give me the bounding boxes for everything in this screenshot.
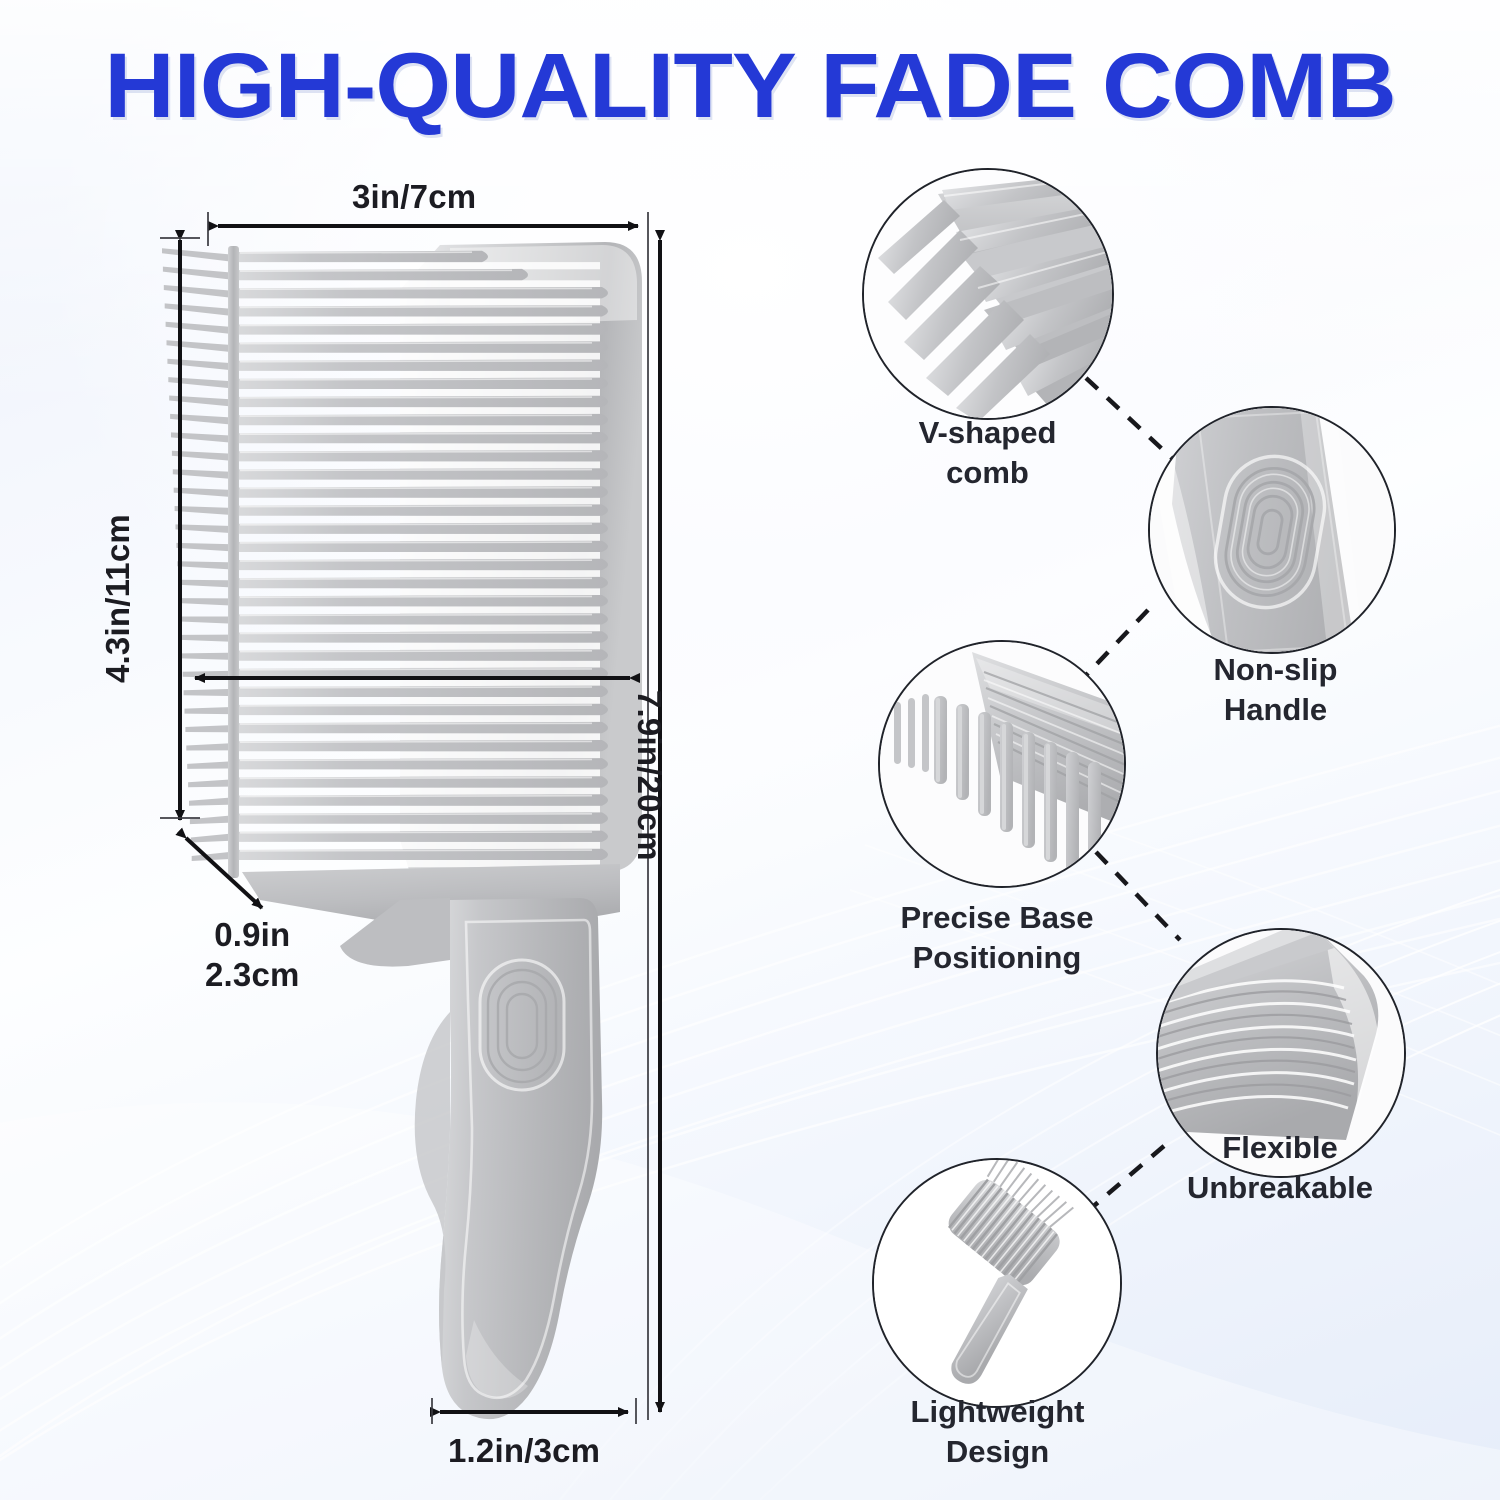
feature-label-lightweight-design: Lightweight Design bbox=[860, 1392, 1135, 1473]
callout-connector-lines bbox=[0, 0, 1500, 1500]
feature-label-v-shaped-comb: V-shaped comb bbox=[855, 413, 1120, 494]
feature-label-flexible-unbreakable: Flexible Unbreakable bbox=[1135, 1128, 1425, 1209]
infographic-canvas: HIGH-QUALITY FADE COMB bbox=[0, 0, 1500, 1500]
feature-circle-lightweight-design bbox=[872, 1158, 1122, 1408]
comb-teeth-closeup-icon bbox=[864, 170, 1114, 420]
whole-comb-icon bbox=[874, 1160, 1122, 1408]
feature-label-non-slip-handle: Non-slip Handle bbox=[1148, 650, 1403, 731]
comb-base-closeup-icon bbox=[880, 642, 1126, 888]
feature-label-precise-base-positioning: Precise Base Positioning bbox=[852, 898, 1142, 979]
feature-circle-precise-base-positioning bbox=[878, 640, 1126, 888]
feature-circle-v-shaped-comb bbox=[862, 168, 1114, 420]
feature-circle-non-slip-handle bbox=[1148, 406, 1396, 654]
handle-grip-closeup-icon bbox=[1150, 408, 1396, 654]
